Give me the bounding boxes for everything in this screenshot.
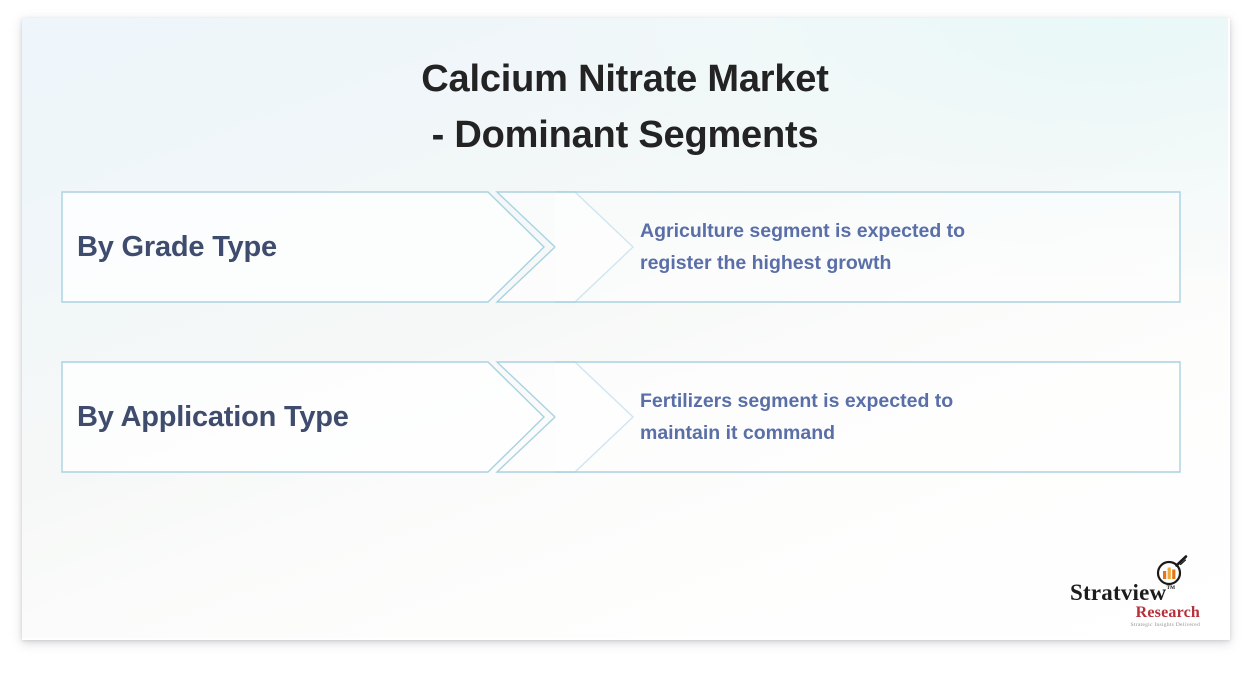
segment-label: By Application Type [77, 356, 477, 478]
company-logo[interactable]: Stratview™ Research Strategic Insights D… [1070, 554, 1200, 626]
segment-row[interactable]: By Grade Type Agriculture segment is exp… [22, 186, 1228, 308]
segment-description-line-2: register the highest growth [640, 247, 1140, 279]
segment-row[interactable]: By Application Type Fertilizers segment … [22, 356, 1228, 478]
title-line-1: Calcium Nitrate Market [22, 51, 1228, 107]
title-line-2: - Dominant Segments [22, 107, 1228, 163]
logo-wordmark-text: Stratview [1070, 580, 1166, 605]
trademark-symbol: ™ [1166, 583, 1175, 593]
logo-subword: Research [1070, 604, 1200, 622]
slide-page: Calcium Nitrate Market - Dominant Segmen… [0, 0, 1251, 679]
segment-description-line-1: Agriculture segment is expected to [640, 215, 1140, 247]
segment-description-line-2: maintain it command [640, 417, 1140, 449]
segment-description-line-1: Fertilizers segment is expected to [640, 385, 1140, 417]
segment-label: By Grade Type [77, 186, 477, 308]
page-title: Calcium Nitrate Market - Dominant Segmen… [22, 51, 1228, 163]
logo-wordmark: Stratview™ [1070, 580, 1200, 606]
slide-canvas: Calcium Nitrate Market - Dominant Segmen… [22, 18, 1228, 638]
segment-description: Agriculture segment is expected to regis… [640, 186, 1140, 308]
logo-tagline: Strategic Insights Delivered [1070, 622, 1200, 628]
segment-description: Fertilizers segment is expected to maint… [640, 356, 1140, 478]
